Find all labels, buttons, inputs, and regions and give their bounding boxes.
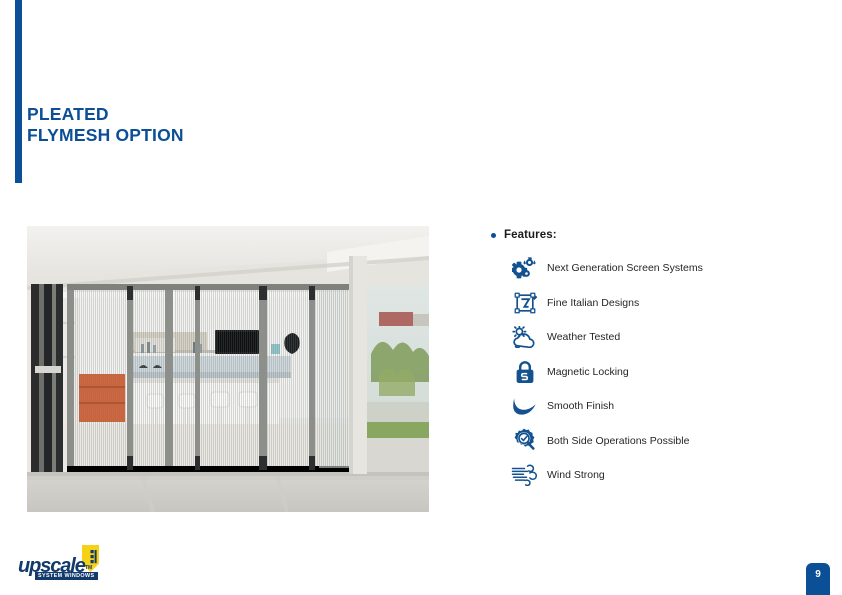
- weather-icon: [508, 322, 542, 352]
- wind-icon: [508, 460, 542, 490]
- page-title-line-1: PLEATED: [27, 105, 184, 123]
- logo-trademark: TM: [85, 565, 92, 571]
- bullet-icon: [491, 233, 496, 238]
- list-item[interactable]: Both Side Operations Possible: [491, 424, 821, 459]
- padlock-icon: [508, 357, 542, 387]
- product-photo: [27, 226, 429, 512]
- list-item[interactable]: Smooth Finish: [491, 389, 821, 424]
- slide-canvas: PLEATED FLYMESH OPTION: [0, 0, 842, 595]
- italian-design-icon: [508, 288, 542, 318]
- left-accent-bar: [15, 0, 22, 183]
- features-list: Next Generation Screen Systems: [491, 251, 821, 493]
- next-generation-screen-icon: [508, 253, 542, 283]
- page-title-line-2: FLYMESH OPTION: [27, 126, 184, 144]
- brand-logo[interactable]: upscale TM SYSTEM WINDOWS: [18, 545, 110, 583]
- feature-label: Both Side Operations Possible: [547, 435, 689, 447]
- features-heading-row: Features:: [491, 229, 821, 241]
- page-number: 9: [815, 569, 821, 580]
- feature-label: Weather Tested: [547, 331, 620, 343]
- feature-label: Wind Strong: [547, 469, 605, 481]
- page-number-badge: 9: [806, 563, 830, 595]
- list-item[interactable]: Fine Italian Designs: [491, 286, 821, 321]
- gear-search-icon: [508, 426, 542, 456]
- feature-label: Magnetic Locking: [547, 366, 629, 378]
- list-item[interactable]: Magnetic Locking: [491, 355, 821, 390]
- features-heading: Features:: [504, 229, 557, 241]
- logo-tagline: SYSTEM WINDOWS: [35, 572, 98, 580]
- photo-illustration: [27, 226, 429, 512]
- feature-label: Smooth Finish: [547, 400, 614, 412]
- feature-label: Next Generation Screen Systems: [547, 262, 703, 274]
- list-item[interactable]: Next Generation Screen Systems: [491, 251, 821, 286]
- smooth-finish-icon: [508, 391, 542, 421]
- list-item[interactable]: Weather Tested: [491, 320, 821, 355]
- feature-label: Fine Italian Designs: [547, 297, 639, 309]
- features-panel: Features:: [491, 229, 821, 493]
- list-item[interactable]: Wind Strong: [491, 458, 821, 493]
- page-title: PLEATED FLYMESH OPTION: [27, 105, 184, 148]
